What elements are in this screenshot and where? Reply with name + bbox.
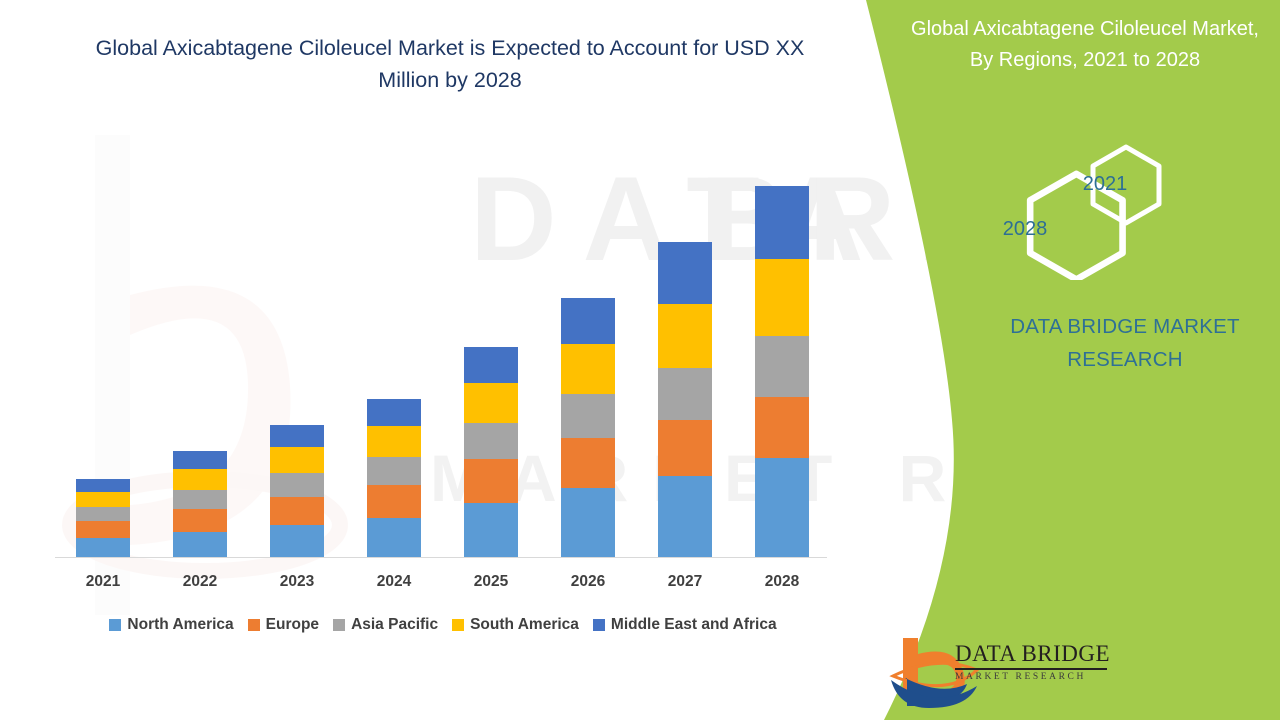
bar-2023[interactable] [270,425,324,558]
bar-2026[interactable] [561,298,615,558]
bar-segment[interactable] [561,488,615,558]
legend-item[interactable]: South America [452,616,579,634]
bar-segment[interactable] [270,447,324,473]
x-axis-label-2027: 2027 [640,573,730,591]
bar-segment[interactable] [561,298,615,344]
bar-segment[interactable] [173,532,227,558]
bar-segment[interactable] [367,426,421,457]
legend-swatch-icon [248,619,260,631]
bar-segment[interactable] [76,479,130,492]
bar-segment[interactable] [270,425,324,447]
bar-segment[interactable] [76,538,130,558]
panel-title: Global Axicabtagene Ciloleucel Market, B… [900,14,1270,76]
bar-2028[interactable] [755,186,809,558]
legend-label: Europe [266,616,319,634]
x-axis-label-2026: 2026 [543,573,633,591]
bar-segment[interactable] [658,242,712,304]
bar-segment[interactable] [173,509,227,532]
bar-segment[interactable] [270,525,324,558]
legend-label: Middle East and Africa [611,616,777,634]
legend-swatch-icon [109,619,121,631]
hexagon-group: 2021 2028 [975,140,1195,280]
bar-2021[interactable] [76,479,130,558]
logo-sub-text: MARKET RESEARCH [955,672,1115,682]
legend-item[interactable]: Asia Pacific [333,616,438,634]
hexagon-2021-label: 2021 [1060,173,1150,196]
legend-label: North America [127,616,233,634]
brand-text-line1: DATA BRIDGE MARKET [960,310,1280,343]
bar-segment[interactable] [173,490,227,509]
bar-segment[interactable] [173,451,227,469]
bar-segment[interactable] [658,420,712,476]
bar-segment[interactable] [561,394,615,438]
bar-segment[interactable] [173,469,227,490]
bar-segment[interactable] [464,459,518,503]
bar-2024[interactable] [367,399,421,558]
x-axis-label-2024: 2024 [349,573,439,591]
legend-swatch-icon [452,619,464,631]
x-axis-label-2022: 2022 [155,573,245,591]
bar-segment[interactable] [658,476,712,558]
bar-segment[interactable] [464,347,518,383]
bar-segment[interactable] [76,492,130,507]
x-axis-line [55,557,827,558]
brand-text: DATA BRIDGE MARKET RESEARCH [960,310,1280,376]
chart-plot-area [55,150,830,558]
bar-segment[interactable] [270,497,324,525]
bar-segment[interactable] [76,507,130,521]
x-axis-label-2021: 2021 [58,573,148,591]
bar-2027[interactable] [658,242,712,558]
legend-label: Asia Pacific [351,616,438,634]
legend-swatch-icon [593,619,605,631]
slide-canvas: DATA BRIDGE MARKET RESEARCH Global Axica… [0,0,1280,720]
chart-title: Global Axicabtagene Ciloleucel Market is… [80,32,820,96]
legend-item[interactable]: North America [109,616,233,634]
bar-2025[interactable] [464,347,518,558]
hexagon-2028-label: 2028 [980,218,1070,241]
bar-segment[interactable] [755,186,809,259]
legend-item[interactable]: Middle East and Africa [593,616,777,634]
bar-segment[interactable] [270,473,324,497]
bar-segment[interactable] [561,438,615,488]
legend-swatch-icon [333,619,345,631]
brand-text-line2: RESEARCH [960,343,1280,376]
bar-segment[interactable] [658,368,712,420]
company-logo-wordmark: DATA BRIDGE MARKET RESEARCH [955,641,1115,682]
bar-segment[interactable] [367,457,421,485]
x-axis-label-2028: 2028 [737,573,827,591]
bar-segment[interactable] [755,259,809,336]
logo-main-text: DATA BRIDGE [955,641,1115,667]
bar-2022[interactable] [173,451,227,558]
bar-segment[interactable] [367,518,421,558]
chart-legend: North AmericaEuropeAsia PacificSouth Ame… [48,616,838,634]
bar-segment[interactable] [755,336,809,397]
bar-segment[interactable] [755,458,809,558]
logo-divider [955,668,1107,670]
legend-item[interactable]: Europe [248,616,319,634]
bar-segment[interactable] [561,344,615,394]
legend-label: South America [470,616,579,634]
x-axis-labels: 20212022202320242025202620272028 [55,573,830,601]
x-axis-label-2023: 2023 [252,573,342,591]
bar-segment[interactable] [464,423,518,459]
bar-segment[interactable] [367,399,421,426]
bar-segment[interactable] [464,383,518,423]
bar-segment[interactable] [367,485,421,518]
bar-segment[interactable] [658,304,712,368]
x-axis-label-2025: 2025 [446,573,536,591]
bar-segment[interactable] [755,397,809,458]
bar-segment[interactable] [76,521,130,538]
bar-segment[interactable] [464,503,518,558]
